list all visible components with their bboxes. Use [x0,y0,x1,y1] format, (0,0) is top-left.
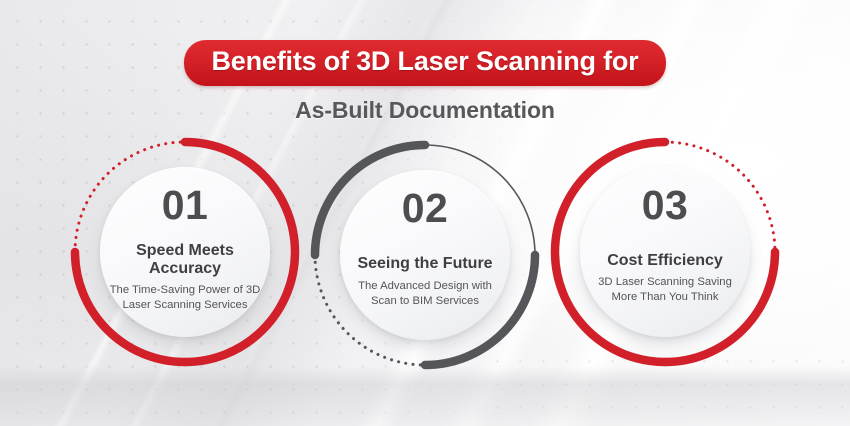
infographic-canvas: Benefits of 3D Laser Scanning for As-Bui… [0,0,850,426]
step-inner-circle-01: 01 Speed Meets Accuracy The Time-Saving … [100,167,270,337]
step-heading-01: Speed Meets Accuracy [109,242,261,278]
step-number-02: 02 [402,188,449,229]
background-bottom-band [0,366,850,426]
title-badge: Benefits of 3D Laser Scanning for [184,40,667,86]
step-number-03: 03 [642,185,689,226]
step-description-03: 3D Laser Scanning Saving More Than You T… [586,275,744,304]
step-card-03[interactable]: 03 Cost Efficiency 3D Laser Scanning Sav… [549,136,781,368]
step-inner-circle-03: 03 Cost Efficiency 3D Laser Scanning Sav… [580,167,750,337]
step-inner-circle-02: 02 Seeing the Future The Advanced Design… [340,170,510,340]
step-card-01[interactable]: 01 Speed Meets Accuracy The Time-Saving … [69,136,301,368]
step-card-02[interactable]: 02 Seeing the Future The Advanced Design… [309,139,541,371]
step-description-01: The Time-Saving Power of 3D Laser Scanni… [106,283,264,312]
step-description-02: The Advanced Design with Scan to BIM Ser… [346,279,504,308]
step-heading-02: Seeing the Future [357,255,492,273]
page-title: Benefits of 3D Laser Scanning for [212,46,639,77]
step-number-01: 01 [162,185,209,226]
header: Benefits of 3D Laser Scanning for As-Bui… [0,0,850,124]
page-subtitle: As-Built Documentation [0,97,850,124]
step-heading-03: Cost Efficiency [607,252,723,270]
